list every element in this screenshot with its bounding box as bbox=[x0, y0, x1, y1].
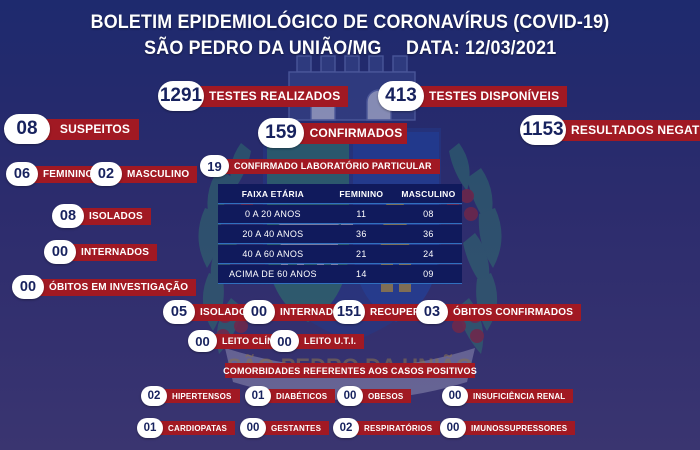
badge-value: 00 bbox=[337, 386, 363, 406]
cell-feminino: 14 bbox=[328, 265, 395, 284]
badge-value: 01 bbox=[245, 386, 271, 406]
cell-masculino: 36 bbox=[395, 225, 462, 244]
badge-label: RESPIRATÓRIOS bbox=[350, 421, 440, 435]
page-header: BOLETIM EPIDEMIOLÓGICO DE CORONAVÍRUS (C… bbox=[0, 10, 700, 62]
badge-respiratorios: 02 RESPIRATÓRIOS bbox=[333, 418, 440, 438]
cell-range: 20 A 40 ANOS bbox=[218, 225, 328, 244]
badge-value: 413 bbox=[378, 81, 424, 111]
badge-value: 02 bbox=[333, 418, 359, 438]
badge-label: RESULTADOS NEGATIVOS bbox=[557, 120, 700, 141]
city-name: SÃO PEDRO DA UNIÃO/MG bbox=[144, 38, 381, 59]
badge-resultados-negativos: 1153 RESULTADOS NEGATIVOS bbox=[520, 115, 700, 145]
cell-range: 40 A 60 ANOS bbox=[218, 245, 328, 264]
badge-suspeitos-feminino: 06 FEMININO bbox=[6, 162, 102, 186]
badge-hipertensos: 02 HIPERTENSOS bbox=[141, 386, 240, 406]
cell-range: 0 A 20 ANOS bbox=[218, 205, 328, 224]
badge-label: ÓBITOS CONFIRMADOS bbox=[439, 304, 581, 321]
badge-value: 06 bbox=[6, 162, 38, 186]
badge-value: 00 bbox=[240, 418, 266, 438]
cell-range: ACIMA DE 60 ANOS bbox=[218, 265, 328, 284]
badge-obitos-confirmados: 03 ÓBITOS CONFIRMADOS bbox=[416, 300, 581, 324]
badge-suspeitos-masculino: 02 MASCULINO bbox=[90, 162, 197, 186]
badge-value: 01 bbox=[137, 418, 163, 438]
badge-obitos-em-investigacao: 00 ÓBITOS EM INVESTIGAÇÃO bbox=[12, 275, 196, 299]
badge-suspeitos-internados: 00 INTERNADOS bbox=[44, 240, 157, 264]
badge-label: CONFIRMADOS bbox=[295, 123, 407, 144]
cell-feminino: 21 bbox=[328, 245, 395, 264]
badge-label: SUSPEITOS bbox=[41, 119, 139, 140]
cell-masculino: 08 bbox=[395, 205, 462, 224]
table-row: 20 A 40 ANOS 36 36 bbox=[218, 225, 462, 244]
badge-label: LEITO U.T.I. bbox=[290, 334, 364, 349]
col-faixa-etaria: FAIXA ETÁRIA bbox=[218, 184, 328, 204]
table-row: ACIMA DE 60 ANOS 14 09 bbox=[218, 265, 462, 284]
badge-value: 00 bbox=[270, 330, 299, 352]
badge-value: 03 bbox=[416, 300, 448, 324]
col-masculino: MASCULINO bbox=[395, 184, 462, 204]
badge-testes-disponiveis: 413 TESTES DISPONÍVEIS bbox=[378, 81, 567, 111]
age-distribution-table: FAIXA ETÁRIA FEMININO MASCULINO 0 A 20 A… bbox=[218, 183, 462, 285]
badge-value: 00 bbox=[243, 300, 275, 324]
table-row: 0 A 20 ANOS 11 08 bbox=[218, 205, 462, 224]
badge-value: 00 bbox=[188, 330, 217, 352]
bulletin-date: DATA: 12/03/2021 bbox=[406, 38, 556, 59]
badge-value: 02 bbox=[141, 386, 167, 406]
badge-label: INTERNADOS bbox=[67, 244, 157, 261]
badge-label: TESTES DISPONÍVEIS bbox=[415, 86, 567, 107]
cell-masculino: 09 bbox=[395, 265, 462, 284]
badge-suspeitos-isolados: 08 ISOLADOS bbox=[52, 204, 151, 228]
badge-value: 1153 bbox=[520, 115, 566, 145]
col-feminino: FEMININO bbox=[328, 184, 395, 204]
badge-imunossupressores: 00 IMUNOSSUPRESSORES bbox=[440, 418, 575, 438]
badge-value: 1291 bbox=[158, 81, 204, 111]
badge-insuficiencia-renal: 00 INSUFICIÊNCIA RENAL bbox=[442, 386, 573, 406]
badge-gestantes: 00 GESTANTES bbox=[240, 418, 329, 438]
cell-masculino: 24 bbox=[395, 245, 462, 264]
table-row: 40 A 60 ANOS 21 24 bbox=[218, 245, 462, 264]
cell-feminino: 36 bbox=[328, 225, 395, 244]
badge-cardiopatas: 01 CARDIOPATAS bbox=[137, 418, 235, 438]
page-title: BOLETIM EPIDEMIOLÓGICO DE CORONAVÍRUS (C… bbox=[21, 10, 679, 36]
badge-value: 00 bbox=[12, 275, 44, 299]
cell-feminino: 11 bbox=[328, 205, 395, 224]
badge-confirmado-laboratorio-particular: 19 CONFIRMADO LABORATÓRIO PARTICULAR bbox=[200, 155, 440, 177]
badge-label: DIABÉTICOS bbox=[262, 389, 335, 403]
badge-value: 00 bbox=[44, 240, 76, 264]
badge-value: 08 bbox=[52, 204, 84, 228]
comorbidities-heading: COMORBIDADES REFERENTES AOS CASOS POSITI… bbox=[225, 363, 475, 378]
badge-diabeticos: 01 DIABÉTICOS bbox=[245, 386, 335, 406]
badge-value: 151 bbox=[333, 300, 365, 324]
badge-obesos: 00 OBESOS bbox=[337, 386, 411, 406]
badge-label: INSUFICIÊNCIA RENAL bbox=[459, 389, 573, 403]
table-header-row: FAIXA ETÁRIA FEMININO MASCULINO bbox=[218, 184, 462, 204]
badge-value: 159 bbox=[258, 118, 304, 148]
badge-label: IMUNOSSUPRESSORES bbox=[457, 421, 575, 435]
badge-label: MASCULINO bbox=[113, 166, 197, 183]
badge-testes-realizados: 1291 TESTES REALIZADOS bbox=[158, 81, 348, 111]
badge-label: HIPERTENSOS bbox=[158, 389, 240, 403]
badge-value: 00 bbox=[440, 418, 466, 438]
subtitle-row: SÃO PEDRO DA UNIÃO/MGDATA: 12/03/2021 bbox=[144, 36, 556, 62]
badge-label: CARDIOPATAS bbox=[154, 421, 235, 435]
badge-label: TESTES REALIZADOS bbox=[195, 86, 348, 107]
badge-label: CONFIRMADO LABORATÓRIO PARTICULAR bbox=[220, 159, 440, 174]
badge-value: 00 bbox=[442, 386, 468, 406]
badge-leito-uti: 00 LEITO U.T.I. bbox=[270, 330, 364, 352]
badge-suspeitos-total: 08 SUSPEITOS bbox=[4, 114, 139, 144]
badge-value: 05 bbox=[163, 300, 195, 324]
badge-label: GESTANTES bbox=[257, 421, 329, 435]
badge-value: 08 bbox=[4, 114, 50, 144]
badge-label: ÓBITOS EM INVESTIGAÇÃO bbox=[35, 279, 196, 296]
badge-value: 02 bbox=[90, 162, 122, 186]
badge-confirmados: 159 CONFIRMADOS bbox=[258, 118, 407, 148]
badge-value: 19 bbox=[200, 155, 229, 177]
badge-label: ISOLADOS bbox=[75, 208, 151, 225]
